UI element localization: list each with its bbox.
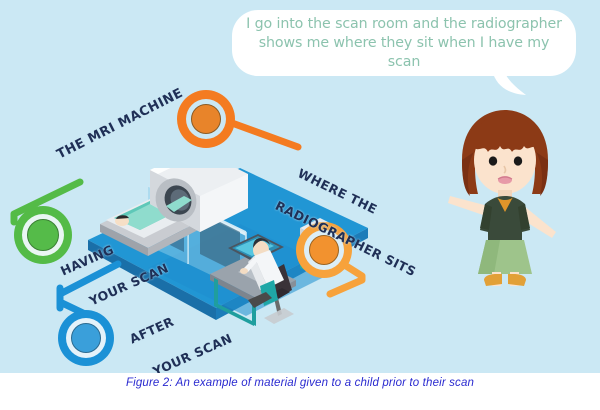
speech-bubble-tail bbox=[492, 70, 532, 96]
right-eye bbox=[514, 156, 522, 165]
label-the-mri-machine: THE MRI MACHINE bbox=[55, 87, 185, 162]
label-line-1: AFTER bbox=[128, 296, 219, 346]
child-girl-character bbox=[440, 108, 570, 288]
node-mri-machine[interactable] bbox=[177, 90, 235, 148]
node-core bbox=[191, 104, 221, 134]
right-shoe bbox=[508, 274, 526, 286]
label-line-2: YOUR SCAN bbox=[151, 331, 234, 373]
figure-caption: Figure 2: An example of material given t… bbox=[0, 377, 600, 389]
speech-bubble-text: I go into the scan room and the radiogra… bbox=[232, 10, 576, 76]
speech-bubble: I go into the scan room and the radiogra… bbox=[232, 10, 576, 76]
caption-strip: Figure 2: An example of material given t… bbox=[0, 373, 600, 410]
left-arm bbox=[448, 196, 488, 216]
illustration-panel: THE MRI MACHINE HAVING YOUR SCAN AFTER Y… bbox=[0, 0, 600, 373]
figure-container: THE MRI MACHINE HAVING YOUR SCAN AFTER Y… bbox=[0, 0, 600, 410]
left-shoe bbox=[484, 274, 502, 286]
left-eye bbox=[489, 156, 497, 165]
